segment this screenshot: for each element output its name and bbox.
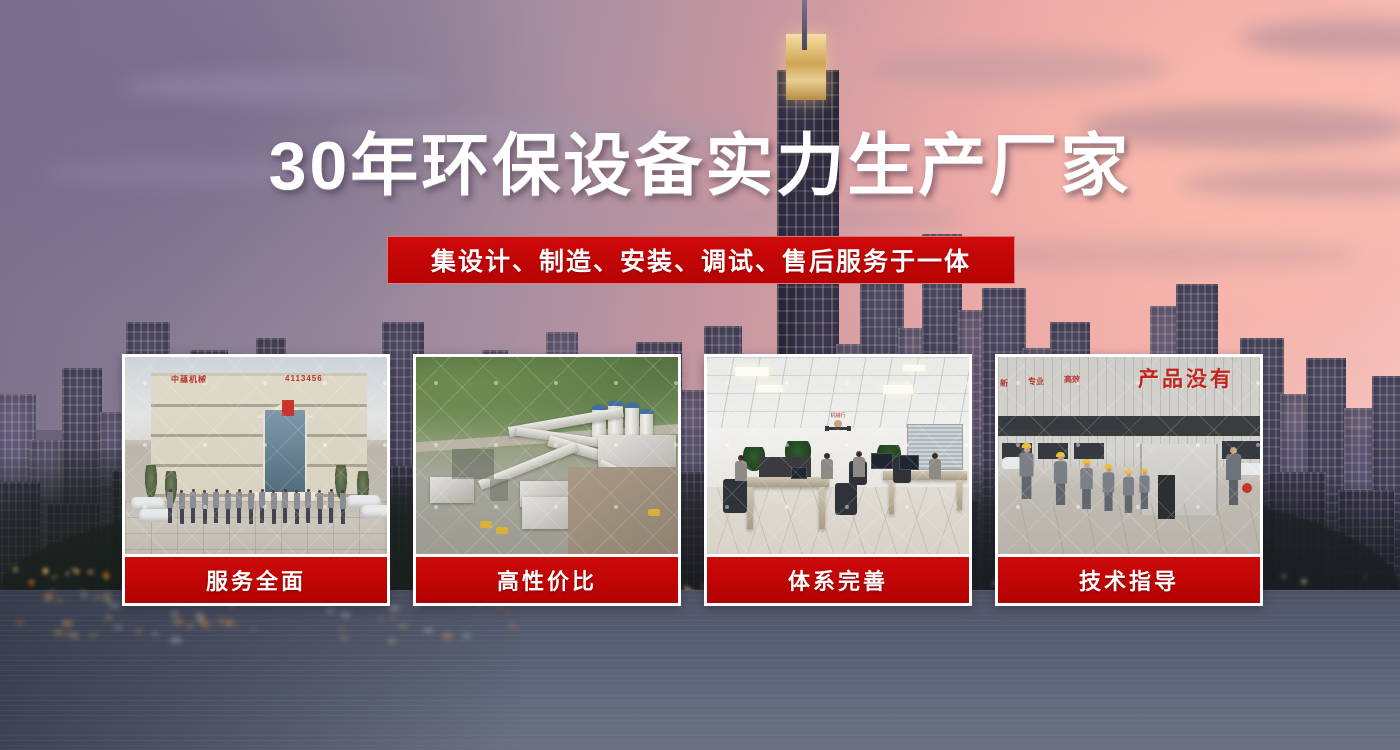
water-reflection: [173, 620, 183, 624]
watermark-dot: [554, 381, 558, 385]
watermark-dot: [785, 381, 789, 385]
water-reflection: [423, 629, 434, 633]
watermark-dot: [323, 443, 327, 447]
watermark-dot: [1256, 381, 1260, 385]
water-reflection: [340, 637, 349, 639]
water-reflection: [62, 621, 73, 626]
water-reflection: [105, 598, 112, 603]
watermark-dot: [785, 505, 789, 509]
staff-figure: [282, 489, 288, 523]
water-reflection: [506, 610, 510, 612]
watermark-dot: [905, 443, 909, 447]
watermark-dot: [725, 443, 729, 447]
tower-spire: [802, 0, 807, 50]
watermark-dot: [614, 443, 618, 447]
worker-figure: [1080, 459, 1092, 509]
water-reflection: [54, 631, 63, 634]
water-reflection: [170, 638, 182, 641]
cloud: [120, 70, 450, 104]
water-reflection: [109, 604, 120, 607]
worker-figure: [1123, 469, 1134, 513]
feature-card[interactable]: 高性价比: [413, 354, 681, 606]
watermark-dot: [434, 381, 438, 385]
watermark-dot: [143, 381, 147, 385]
water-reflection: [114, 626, 122, 628]
watermark-dot: [263, 381, 267, 385]
water-reflection: [17, 621, 23, 625]
watermark-dot: [614, 505, 618, 509]
shore-light: [89, 570, 93, 574]
watermark-dot: [263, 505, 267, 509]
watermark-dot: [845, 381, 849, 385]
shore-light: [66, 572, 70, 576]
watermark-dot: [383, 381, 387, 385]
staff-figure: [294, 490, 300, 524]
watermark-dot: [674, 443, 678, 447]
watermark-dot: [323, 381, 327, 385]
water-reflection: [228, 623, 238, 625]
cloud: [960, 240, 1360, 270]
watermark-dot: [263, 443, 267, 447]
watermark-dot: [725, 381, 729, 385]
building-phone-text: 4113456: [285, 374, 323, 383]
card-caption-text: 服务全面: [206, 564, 306, 596]
water-reflection: [171, 612, 178, 616]
water-reflection: [72, 634, 78, 637]
water-reflection: [391, 615, 395, 618]
watermark-dot: [1016, 443, 1020, 447]
watermark-dot: [965, 381, 969, 385]
water-reflection: [46, 596, 50, 601]
staff-figure: [248, 490, 254, 524]
watermark-dot: [554, 443, 558, 447]
water-reflection: [509, 625, 516, 628]
card-caption-text: 技术指导: [1079, 564, 1179, 596]
staff-figure: [179, 490, 185, 524]
watermark-dot: [203, 505, 207, 509]
watermark-dot: [554, 505, 558, 509]
water-reflection: [380, 617, 384, 620]
watermark-dot: [1076, 381, 1080, 385]
feature-card[interactable]: 机械行: [704, 354, 972, 606]
watermark-dot: [1136, 443, 1140, 447]
water-reflection: [136, 629, 141, 633]
card-caption-text: 体系完善: [788, 564, 888, 596]
water-reflection: [389, 606, 399, 609]
water-reflection: [463, 634, 470, 638]
water-reflection: [93, 596, 104, 599]
staff-figure: [317, 490, 323, 524]
watermark-dot: [845, 505, 849, 509]
water-reflection: [195, 613, 204, 616]
watermark-dot: [1136, 381, 1140, 385]
water-reflection: [341, 613, 350, 616]
water-reflection: [340, 627, 343, 631]
factory-wall-text-1: 新: [1000, 379, 1008, 388]
building-sign-text: 中蕴机械: [171, 374, 207, 385]
water-reflection: [106, 616, 112, 620]
staff-figure: [236, 489, 242, 523]
staff-figure: [167, 489, 173, 523]
svg-text:机械行: 机械行: [830, 412, 845, 419]
watermark-dot: [1016, 381, 1020, 385]
water-reflection: [251, 628, 255, 630]
watermark-dot: [1016, 505, 1020, 509]
watermark-dot: [143, 443, 147, 447]
watermark-dot: [1256, 443, 1260, 447]
water-reflection: [201, 622, 210, 626]
water-reflection: [327, 609, 334, 613]
card-caption: 服务全面: [125, 557, 387, 603]
watermark-dot: [434, 443, 438, 447]
wall-logo-icon: 机械行: [819, 409, 857, 435]
promo-banner: 30年环保设备实力生产厂家 集设计、制造、安装、调试、售后服务于一体 中蕴机: [0, 0, 1400, 750]
watermark-dot: [494, 381, 498, 385]
watermark-dot: [905, 505, 909, 509]
staff-figure: [225, 490, 231, 524]
card-caption: 体系完善: [707, 557, 969, 603]
office-interior-with-employees-photo: 机械行: [707, 357, 969, 554]
staff-figure: [271, 490, 277, 524]
water-reflection: [197, 617, 205, 621]
shore-light: [1282, 575, 1285, 578]
water-reflection: [58, 598, 62, 602]
worker-figure: [1054, 452, 1067, 505]
watermark-dot: [323, 505, 327, 509]
water-reflection: [105, 593, 108, 598]
staff-figure: [213, 489, 219, 523]
card-caption-text: 高性价比: [497, 564, 597, 596]
factory-wall-text-2: 专业: [1028, 377, 1044, 386]
watermark-dot: [1076, 505, 1080, 509]
card-caption: 技术指导: [998, 557, 1260, 603]
water-reflection: [398, 625, 408, 627]
aerial-view-industrial-processing-plant-photo: [416, 357, 678, 554]
watermark-dot: [1196, 505, 1200, 509]
watermark-dot: [614, 381, 618, 385]
factory-wall-big-text: 产品没有: [1138, 363, 1234, 393]
worker-figure: [1019, 443, 1033, 499]
watermark-dot: [494, 443, 498, 447]
feature-card[interactable]: 产品没有 新 专业 高效: [995, 354, 1263, 606]
water-reflection: [442, 634, 453, 638]
subtitle-banner: 集设计、制造、安装、调试、售后服务于一体: [387, 236, 1015, 284]
page-title: 30年环保设备实力生产厂家: [0, 126, 1400, 206]
water-reflection: [81, 593, 87, 597]
shore-light: [52, 576, 54, 578]
watermark-dot: [845, 443, 849, 447]
staff-figure: [190, 489, 196, 523]
watermark-dot: [203, 381, 207, 385]
water-reflection: [153, 632, 157, 636]
watermark-dot: [674, 381, 678, 385]
watermark-dot: [965, 443, 969, 447]
watermark-dot: [725, 505, 729, 509]
watermark-dot: [1196, 381, 1200, 385]
shore-light: [13, 567, 18, 572]
shore-light: [75, 569, 80, 574]
watermark-dot: [494, 505, 498, 509]
subtitle-text: 集设计、制造、安装、调试、售后服务于一体: [431, 242, 971, 278]
water-reflection: [389, 639, 395, 642]
watermark-dot: [1196, 443, 1200, 447]
company-headquarters-building-with-staff-photo: 中蕴机械 4113456: [125, 357, 387, 554]
shore-light: [55, 575, 58, 578]
feature-card[interactable]: 中蕴机械 4113456 服务全面: [122, 354, 390, 606]
shore-light: [43, 568, 49, 574]
watermark-dot: [203, 443, 207, 447]
staff-figure: [305, 489, 311, 523]
watermark-dot: [1076, 443, 1080, 447]
watermark-dot: [434, 505, 438, 509]
card-caption: 高性价比: [416, 557, 678, 603]
water-reflection: [187, 624, 193, 628]
worker-figure: [1139, 468, 1149, 509]
watermark-dot: [143, 505, 147, 509]
watermark-dot: [1136, 505, 1140, 509]
water-reflection: [219, 619, 223, 623]
staff-figure: [340, 490, 346, 524]
feature-card-row: 中蕴机械 4113456 服务全面: [122, 354, 1278, 606]
watermark-dot: [905, 381, 909, 385]
shore-light: [1364, 576, 1366, 578]
watermark-dot: [785, 443, 789, 447]
water-reflection: [88, 634, 99, 636]
worker-figure: [1103, 464, 1115, 511]
cloud: [870, 48, 1170, 88]
watermark-dot: [383, 443, 387, 447]
workers-in-hard-hats-at-factory-yard-photo: 产品没有 新 专业 高效: [998, 357, 1260, 554]
staff-figure: [328, 489, 334, 523]
shore-light: [105, 576, 108, 579]
